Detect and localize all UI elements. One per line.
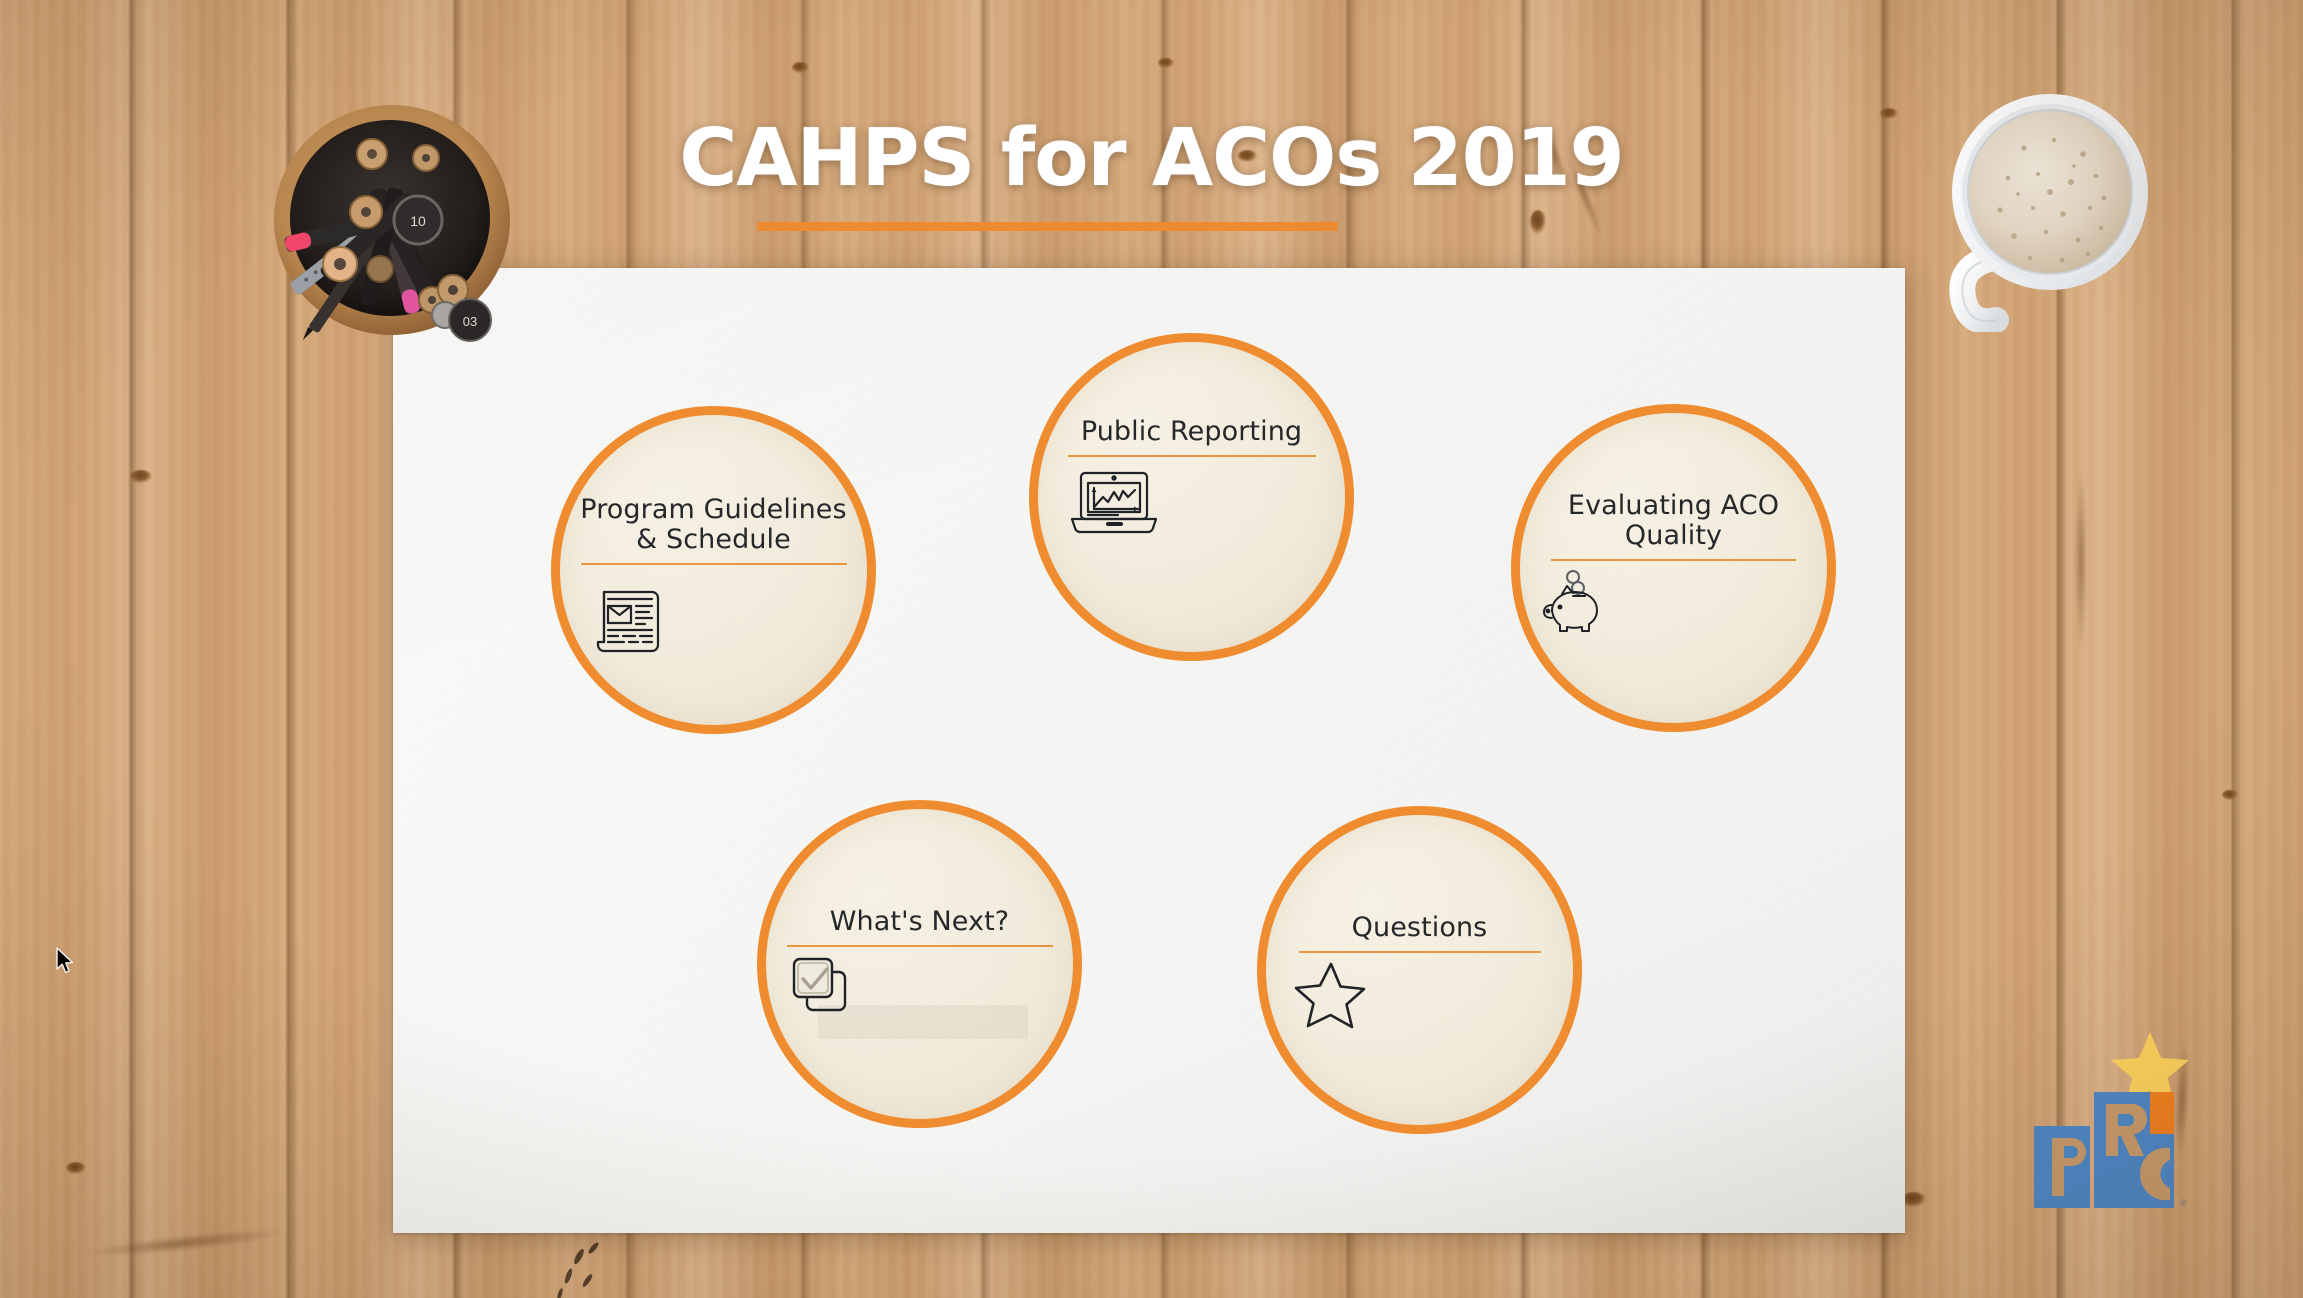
agenda-circle-program-guidelines[interactable]: Program Guidelines & Schedule (551, 406, 876, 734)
checkbox-check-icon (788, 953, 862, 1027)
laptop-chart-icon (1068, 465, 1160, 543)
agenda-label-public-reporting: Public Reporting (1047, 417, 1337, 447)
svg-text:03: 03 (463, 314, 477, 329)
circle-texture (560, 415, 867, 725)
piggy-bank-icon (1540, 567, 1618, 637)
star-outline-icon (1292, 959, 1368, 1031)
agenda-label-evaluating-aco-quality: Evaluating ACO Quality (1534, 491, 1814, 551)
agenda-label-line1: What's Next? (830, 906, 1009, 937)
wood-knot (1530, 210, 1546, 234)
agenda-circle-questions[interactable]: Questions (1257, 806, 1582, 1134)
agenda-label-line1: Program Guidelines (580, 494, 846, 525)
agenda-circle-public-reporting[interactable]: Public Reporting (1029, 333, 1354, 661)
svg-text:10: 10 (410, 213, 426, 229)
mouse-pointer-icon (55, 947, 77, 977)
agenda-label-underline (1299, 951, 1541, 953)
wood-knot (1902, 1192, 1926, 1207)
prc-logo: ® (2030, 1030, 2190, 1210)
presentation-slide: CAHPS for ACOs 2019 Program Guidelines &… (0, 0, 2303, 1298)
pencil-cup-icon: 10 03 (240, 72, 540, 372)
agenda-label-underline (1068, 455, 1316, 457)
title-underline (757, 222, 1338, 231)
agenda-label-line1: Public Reporting (1081, 416, 1302, 447)
agenda-label-program-guidelines: Program Guidelines & Schedule (569, 495, 859, 555)
agenda-circle-whats-next[interactable]: What's Next? (757, 800, 1082, 1128)
document-newsletter-icon (588, 575, 674, 661)
coffee-mug-icon (1938, 82, 2168, 332)
agenda-circle-evaluating-aco-quality[interactable]: Evaluating ACO Quality (1511, 404, 1836, 732)
registered-mark: ® (2180, 1198, 2187, 1208)
agenda-label-underline (1551, 559, 1796, 561)
wood-knot (130, 470, 152, 483)
agenda-label-line2: & Schedule (636, 524, 791, 555)
wood-knot (2222, 790, 2238, 800)
wood-knot (792, 62, 809, 73)
agenda-label-underline (787, 945, 1053, 947)
agenda-label-questions: Questions (1290, 913, 1550, 943)
wood-knot (1158, 58, 1174, 68)
wood-grain-streak (2075, 470, 2087, 650)
agenda-label-line1: Questions (1352, 912, 1488, 943)
agenda-label-underline (581, 563, 847, 565)
wood-knot (66, 1162, 86, 1174)
agenda-label-line1: Evaluating ACO (1568, 490, 1779, 521)
agenda-label-whats-next: What's Next? (780, 907, 1060, 937)
agenda-label-line2: Quality (1625, 520, 1722, 551)
